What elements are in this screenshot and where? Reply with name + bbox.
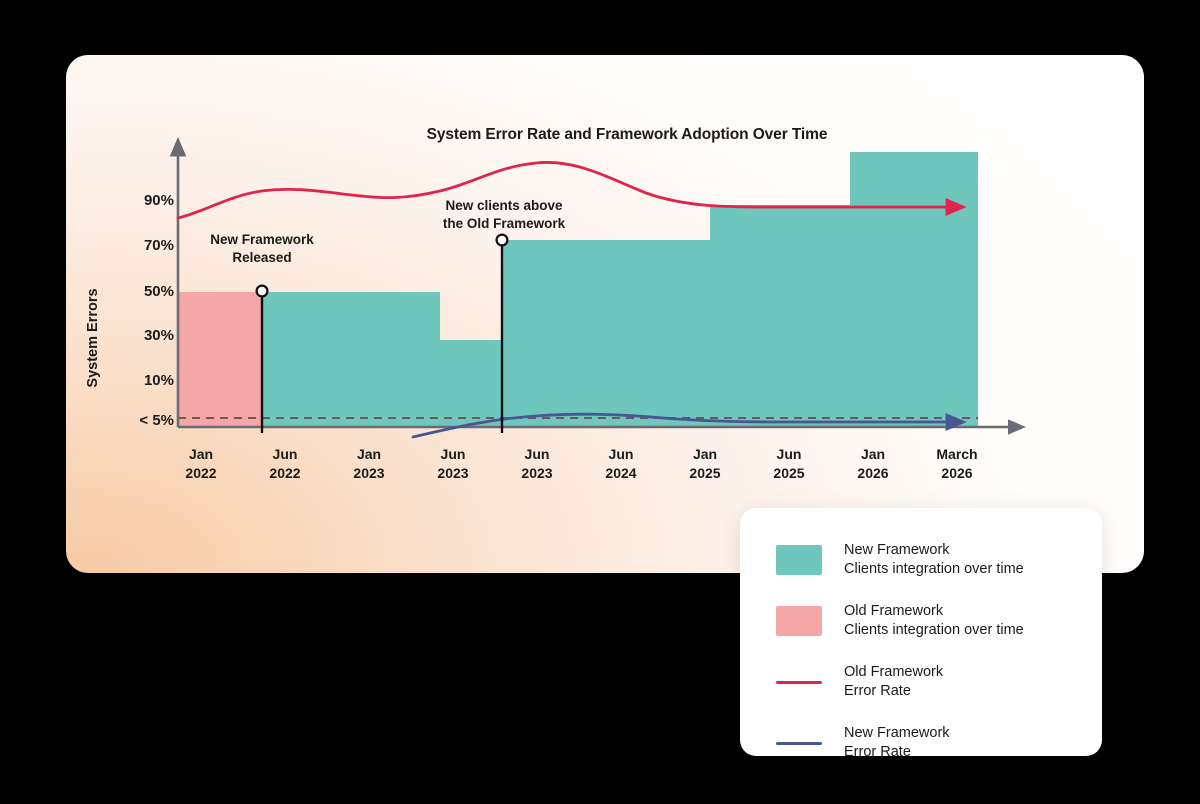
x-tick-year: 2026 xyxy=(830,464,916,483)
legend-line-blue-wrap xyxy=(776,728,822,758)
legend-swatch-teal xyxy=(776,545,822,575)
x-tick-year: 2026 xyxy=(914,464,1000,483)
y-axis-arrow xyxy=(173,143,184,156)
legend-line-2: Clients integration over time xyxy=(844,621,1024,640)
chart-card: System Error Rate and Framework Adoption… xyxy=(66,55,1144,573)
x-tick-year: 2025 xyxy=(746,464,832,483)
x-tick-month: Jan xyxy=(662,445,748,464)
legend-label: Old Framework Clients integration over t… xyxy=(844,602,1024,640)
annotation-marker-new-clients-above-old[interactable] xyxy=(497,235,508,246)
annotation-label-new-framework-released: New Framework Released xyxy=(176,231,348,267)
legend-item-old-framework-error-rate[interactable]: Old Framework Error Rate xyxy=(776,660,1102,704)
legend-item-new-framework-error-rate[interactable]: New Framework Error Rate xyxy=(776,721,1102,765)
legend-label: New Framework Clients integration over t… xyxy=(844,541,1024,579)
x-tick-label: March 2026 xyxy=(914,445,1000,483)
annotation-line-2: Released xyxy=(176,249,348,267)
legend-line-2: Error Rate xyxy=(844,743,950,762)
x-tick-label: Jun 2023 xyxy=(494,445,580,483)
x-tick-month: Jun xyxy=(410,445,496,464)
x-tick-year: 2023 xyxy=(410,464,496,483)
x-tick-month: March xyxy=(914,445,1000,464)
legend-line-2: Error Rate xyxy=(844,682,943,701)
y-tick-label: 50% xyxy=(116,283,174,300)
x-tick-label: Jan 2022 xyxy=(158,445,244,483)
x-tick-year: 2025 xyxy=(662,464,748,483)
legend-line-blue xyxy=(776,742,822,745)
x-tick-year: 2022 xyxy=(158,464,244,483)
x-tick-month: Jun xyxy=(494,445,580,464)
annotation-marker-new-framework-released[interactable] xyxy=(257,286,268,297)
annotation-line-1: New clients above xyxy=(414,197,594,215)
legend-line-1: Old Framework xyxy=(844,663,943,682)
legend-line-1: Old Framework xyxy=(844,602,1024,621)
legend-line-red-wrap xyxy=(776,667,822,697)
x-tick-label: Jun 2025 xyxy=(746,445,832,483)
x-tick-month: Jan xyxy=(158,445,244,464)
legend-line-2: Clients integration over time xyxy=(844,560,1024,579)
x-tick-label: Jun 2024 xyxy=(578,445,664,483)
legend-label: New Framework Error Rate xyxy=(844,724,950,762)
legend-line-red xyxy=(776,681,822,684)
annotation-line-2: the Old Framework xyxy=(414,215,594,233)
chart-title: System Error Rate and Framework Adoption… xyxy=(392,126,862,144)
chart-legend: New Framework Clients integration over t… xyxy=(740,508,1102,756)
y-axis-title: System Errors xyxy=(85,278,101,398)
x-tick-month: Jan xyxy=(326,445,412,464)
x-tick-year: 2023 xyxy=(494,464,580,483)
x-tick-month: Jun xyxy=(746,445,832,464)
page-root: System Error Rate and Framework Adoption… xyxy=(0,0,1200,804)
legend-line-1: New Framework xyxy=(844,541,1024,560)
x-tick-month: Jun xyxy=(242,445,328,464)
legend-swatch-pink xyxy=(776,606,822,636)
x-tick-year: 2024 xyxy=(578,464,664,483)
y-tick-label: 10% xyxy=(116,372,174,389)
y-tick-label: 90% xyxy=(116,192,174,209)
y-tick-label: 70% xyxy=(116,237,174,254)
x-tick-month: Jan xyxy=(830,445,916,464)
y-tick-labels: 90% 70% 50% 30% 10% < 5% xyxy=(106,55,174,573)
x-tick-label: Jun 2023 xyxy=(410,445,496,483)
y-tick-label: < 5% xyxy=(116,412,174,429)
y-tick-label: 30% xyxy=(116,327,174,344)
series-new-framework-area xyxy=(262,152,978,427)
x-tick-month: Jun xyxy=(578,445,664,464)
legend-label: Old Framework Error Rate xyxy=(844,663,943,701)
x-tick-label: Jan 2023 xyxy=(326,445,412,483)
x-tick-label: Jun 2022 xyxy=(242,445,328,483)
annotation-line-1: New Framework xyxy=(176,231,348,249)
x-tick-label: Jan 2025 xyxy=(662,445,748,483)
legend-line-1: New Framework xyxy=(844,724,950,743)
x-tick-year: 2022 xyxy=(242,464,328,483)
legend-item-new-framework-clients[interactable]: New Framework Clients integration over t… xyxy=(776,538,1102,582)
x-tick-year: 2023 xyxy=(326,464,412,483)
legend-item-old-framework-clients[interactable]: Old Framework Clients integration over t… xyxy=(776,599,1102,643)
x-tick-label: Jan 2026 xyxy=(830,445,916,483)
annotation-label-new-clients-above-old: New clients above the Old Framework xyxy=(414,197,594,233)
